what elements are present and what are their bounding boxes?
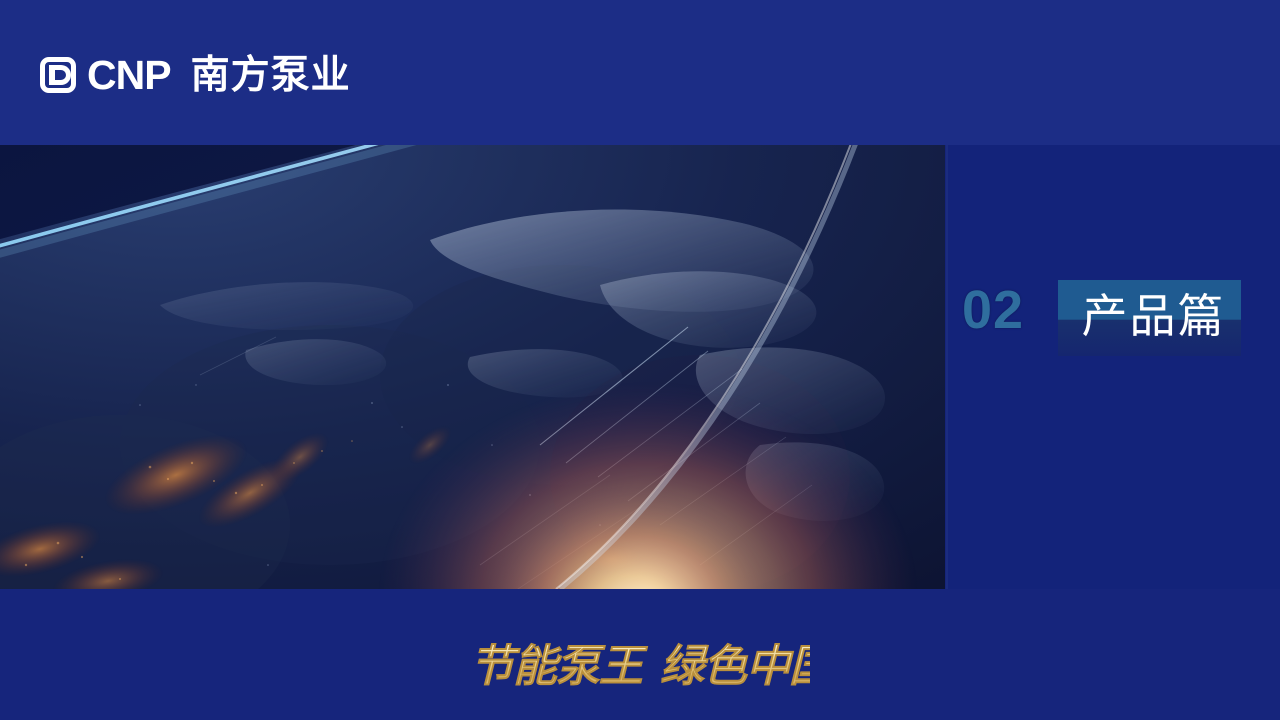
brand-logo: CNP 南方泵业 xyxy=(40,52,351,98)
svg-text:绿色中国: 绿色中国 xyxy=(660,641,810,692)
cnp-logo-mark-icon xyxy=(40,57,76,93)
header-band: CNP 南方泵业 xyxy=(0,0,1280,145)
footer-slogan: 节能泵王 绿色中国 xyxy=(0,630,1280,700)
brand-latin-text: CNP xyxy=(87,55,171,96)
right-column: 02 产品篇 xyxy=(948,145,1280,589)
earth-from-space-night-photo xyxy=(0,145,945,589)
svg-text:节能泵王: 节能泵王 xyxy=(470,641,648,692)
section-number: 02 xyxy=(962,283,1024,337)
section-title-text: 产品篇 xyxy=(1066,279,1241,353)
presentation-slide: CNP 南方泵业 xyxy=(0,0,1280,720)
slogan-calligraphy: 节能泵王 绿色中国 xyxy=(470,634,810,696)
earth-image-panel xyxy=(0,145,945,589)
brand-chinese-text: 南方泵业 xyxy=(191,56,351,95)
